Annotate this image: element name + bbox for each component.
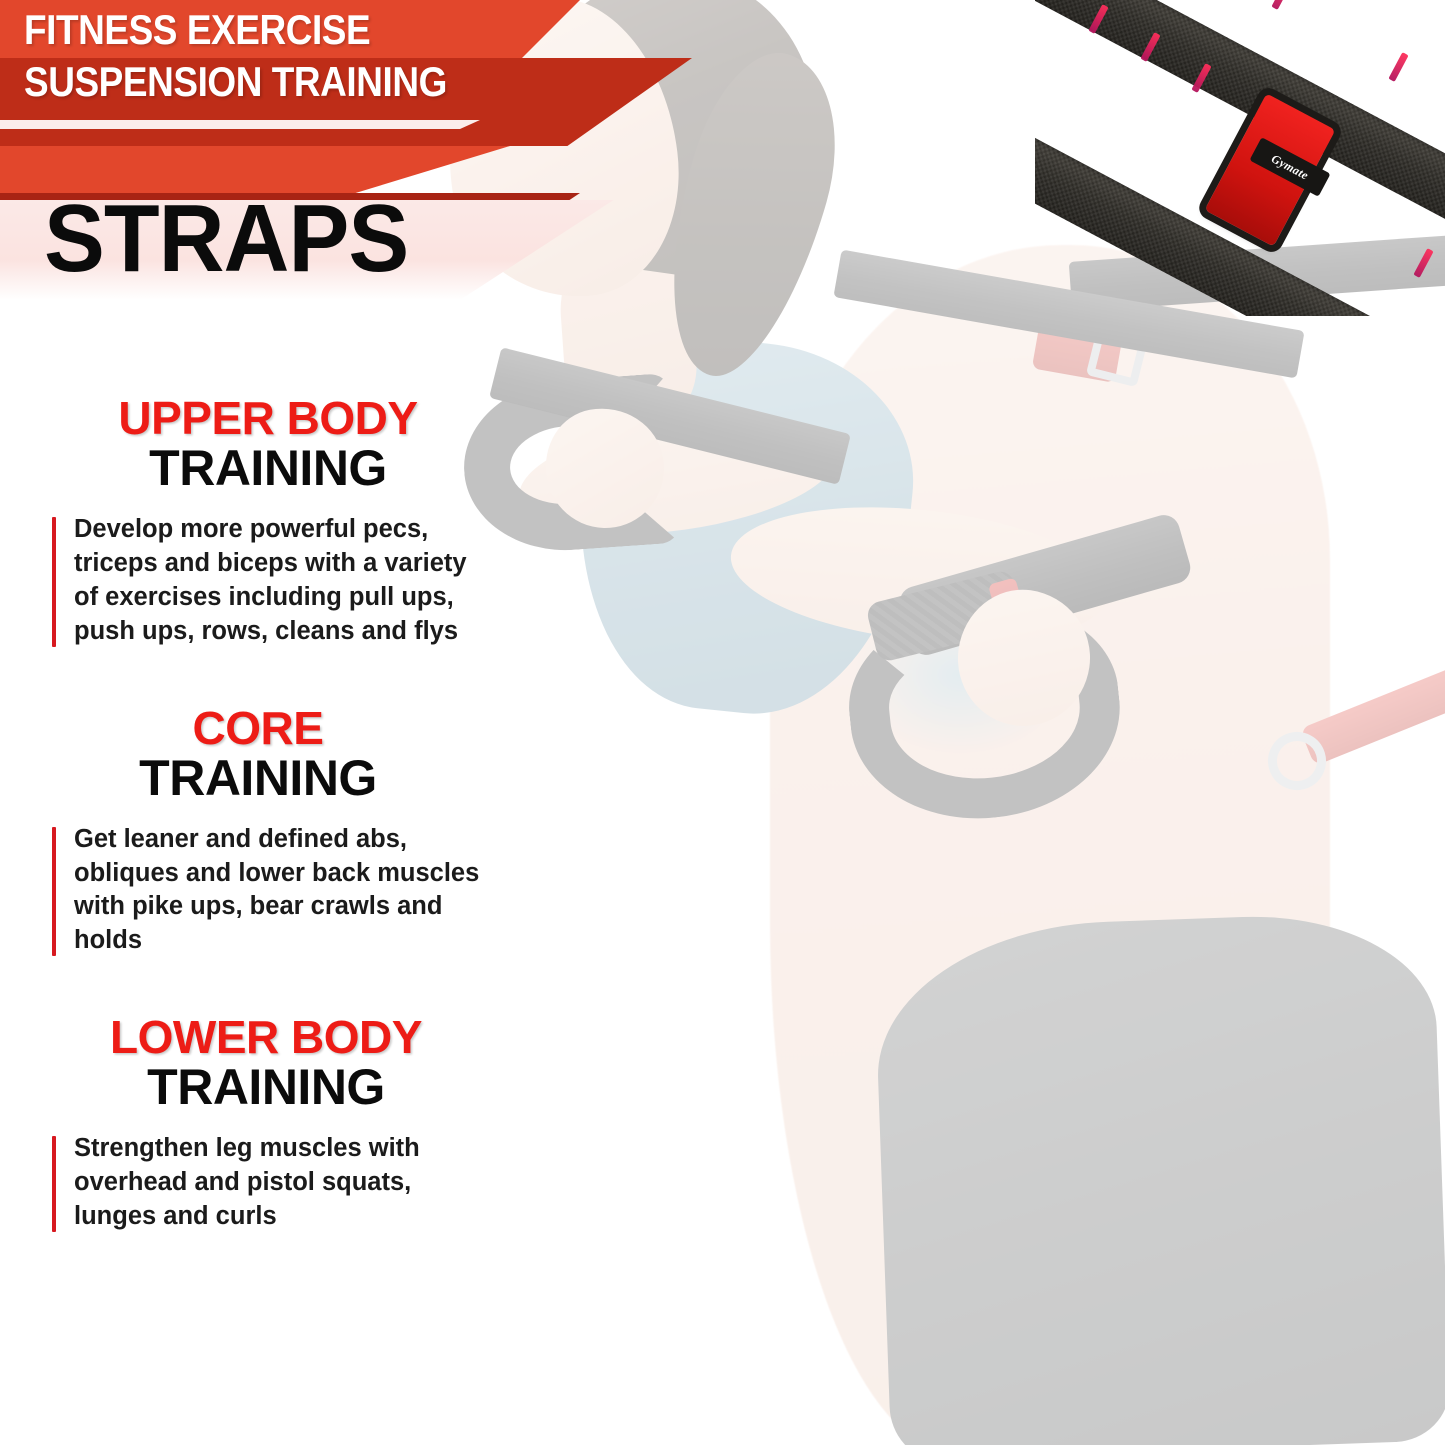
header-title-line-2: SUSPENSION TRAINING [24, 58, 447, 106]
feature-body: Develop more powerful pecs, triceps and … [52, 513, 520, 649]
header-title-line-1: FITNESS EXERCISE [24, 6, 370, 54]
feature-upper-body-training: UPPER BODY TRAINING Develop more powerfu… [0, 395, 520, 649]
strap-stitch-mark [1271, 0, 1291, 10]
feature-core-training: CORE TRAINING Get leaner and defined abs… [0, 705, 520, 959]
feature-description: Get leaner and defined abs, obliques and… [74, 823, 494, 959]
athlete-leggings [873, 910, 1445, 1445]
feature-description: Strengthen leg muscles with overhead and… [74, 1132, 494, 1234]
feature-title-red: LOWER BODY [36, 1014, 496, 1060]
feature-title-red: CORE [20, 705, 496, 751]
header-banner: FITNESS EXERCISE SUSPENSION TRAINING STR… [0, 0, 780, 300]
banner-white-divider [0, 120, 480, 129]
feature-title: CORE TRAINING [0, 705, 520, 811]
product-word-straps: STRAPS [44, 184, 408, 294]
feature-list: UPPER BODY TRAINING Develop more powerfu… [0, 395, 520, 1290]
feature-body: Strengthen leg muscles with overhead and… [52, 1132, 520, 1234]
strap-stitch-mark [1388, 52, 1408, 82]
feature-title: LOWER BODY TRAINING [0, 1014, 520, 1120]
feature-title-black: TRAINING [40, 443, 496, 493]
strap-stitch-mark [1413, 248, 1433, 278]
feature-title-black: TRAINING [20, 753, 496, 803]
feature-title-red: UPPER BODY [40, 395, 496, 441]
product-strap-photo: Gymate [1035, 0, 1445, 316]
feature-body: Get leaner and defined abs, obliques and… [52, 823, 520, 959]
feature-lower-body-training: LOWER BODY TRAINING Strengthen leg muscl… [0, 1014, 520, 1234]
feature-title: UPPER BODY TRAINING [0, 395, 520, 501]
feature-description: Develop more powerful pecs, triceps and … [74, 513, 494, 649]
infographic-canvas: Gymate FITNESS EXERCISE SUSPENSION TRAIN… [0, 0, 1445, 1445]
feature-title-black: TRAINING [36, 1062, 496, 1112]
